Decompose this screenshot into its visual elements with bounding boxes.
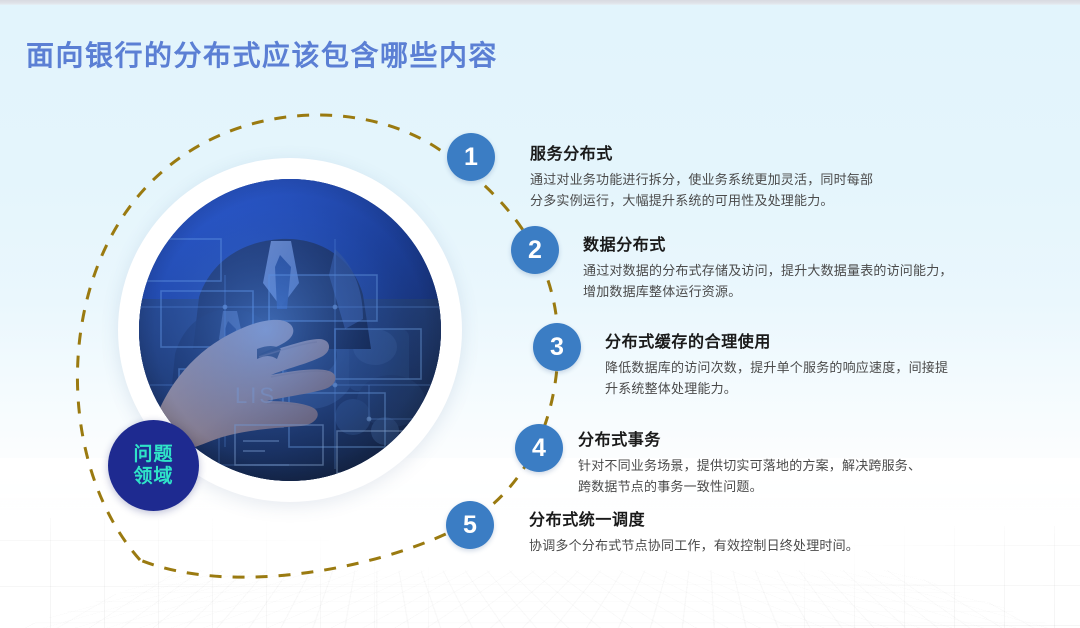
item-body-5: 协调多个分布式节点协同工作，有效控制日终处理时间。 [529,535,999,556]
item-number-3[interactable]: 3 [533,323,581,371]
problem-domain-line2: 领域 [133,466,173,487]
item-text-4: 分布式事务 针对不同业务场景，提供切实可落地的方案，解决跨服务、 跨数据节点的事… [578,426,1018,497]
item-text-1: 服务分布式 通过对业务功能进行拆分，使业务系统更加灵活，同时每部 分多实例运行，… [530,140,1000,211]
item-body-2: 通过对数据的分布式存储及访问，提升大数据量表的访问能力， 增加数据库整体运行资源… [583,260,1053,302]
item-number-4[interactable]: 4 [515,424,563,472]
page-title: 面向银行的分布式应该包含哪些内容 [26,34,498,74]
top-edge-strip [0,0,1080,5]
item-heading-1: 服务分布式 [530,140,1000,164]
item-text-2: 数据分布式 通过对数据的分布式存储及访问，提升大数据量表的访问能力， 增加数据库… [583,231,1053,302]
item-body-1: 通过对业务功能进行拆分，使业务系统更加灵活，同时每部 分多实例运行，大幅提升系统… [530,169,1000,211]
slide-canvas: 面向银行的分布式应该包含哪些内容 [0,0,1080,628]
problem-domain-badge: 问题 领域 [108,420,199,511]
item-heading-4: 分布式事务 [578,426,1018,450]
item-body-3: 降低数据库的访问次数，提升单个服务的响应速度，间接提 升系统整体处理能力。 [605,357,1025,399]
item-text-3: 分布式缓存的合理使用 降低数据库的访问次数，提升单个服务的响应速度，间接提 升系… [605,328,1025,399]
problem-domain-line1: 问题 [133,444,173,465]
item-number-2[interactable]: 2 [511,226,559,274]
item-heading-3: 分布式缓存的合理使用 [605,328,1025,352]
item-heading-5: 分布式统一调度 [529,506,999,530]
item-number-1[interactable]: 1 [447,133,495,181]
item-heading-2: 数据分布式 [583,231,1053,255]
item-body-4: 针对不同业务场景，提供切实可落地的方案，解决跨服务、 跨数据节点的事务一致性问题… [578,455,1018,497]
item-text-5: 分布式统一调度 协调多个分布式节点协同工作，有效控制日终处理时间。 [529,506,999,556]
item-number-5[interactable]: 5 [446,501,494,549]
